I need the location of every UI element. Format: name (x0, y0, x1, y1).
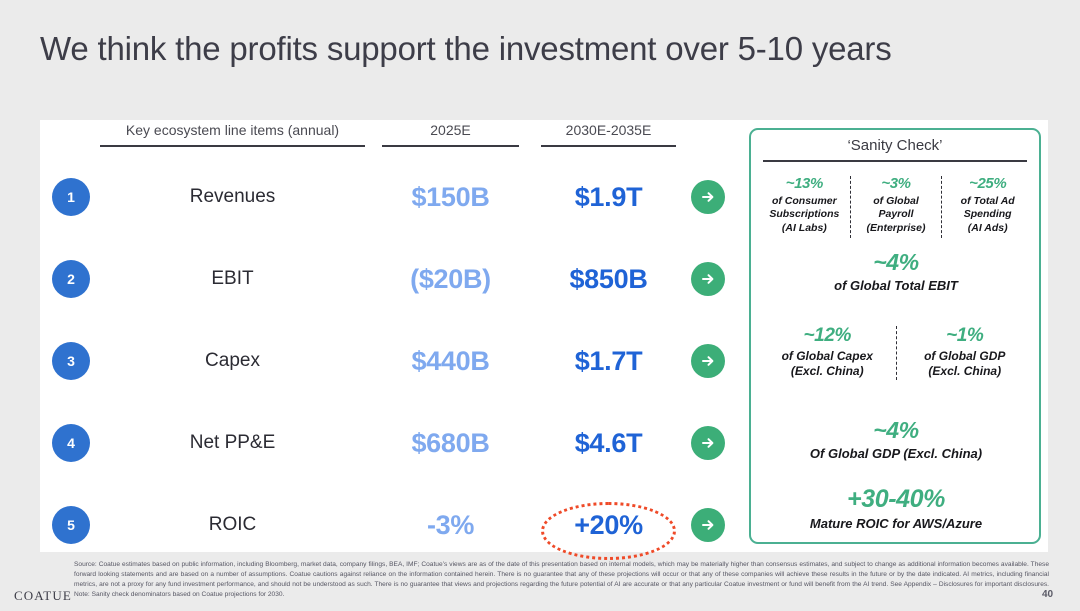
table-header-row: Key ecosystem line items (annual) 2025E … (40, 120, 740, 156)
footnote-disclaimer: Source: Coatue estimates based on public… (74, 560, 1049, 600)
sanity-percent: ~25% (945, 176, 1030, 192)
sanity-percent: +30-40% (759, 486, 1033, 512)
row-value-2030e: $1.7T (541, 338, 676, 384)
sanity-row-roic: +30-40% Mature ROIC for AWS/Azure (759, 486, 1033, 533)
content-card: Key ecosystem line items (annual) 2025E … (40, 120, 1048, 552)
row-number-badge: 1 (52, 178, 90, 216)
row-line-item: EBIT (100, 260, 365, 298)
sanity-row-capex: ~12% of Global Capex (Excl. China) ~1% o… (759, 326, 1033, 380)
column-header-line-items: Key ecosystem line items (annual) (100, 122, 365, 147)
sanity-percent: ~4% (759, 418, 1033, 442)
sanity-row-net-ppe: ~4% Of Global GDP (Excl. China) (759, 418, 1033, 463)
sanity-row-revenues: ~13% of Consumer Subscriptions (AI Labs)… (759, 176, 1033, 238)
sanity-cell: ~1% of Global GDP (Excl. China) (897, 326, 1034, 380)
sanity-description: of Global Capex (Excl. China) (762, 349, 893, 380)
page-title: We think the profits support the investm… (40, 30, 892, 68)
row-value-2025e: ($20B) (382, 256, 519, 302)
sanity-check-panel: ‘Sanity Check’ ~13% of Consumer Subscrip… (749, 128, 1041, 544)
row-value-2025e: $680B (382, 420, 519, 466)
sanity-cell: ~25% of Total Ad Spending (AI Ads) (942, 176, 1033, 235)
sanity-check-title: ‘Sanity Check’ (763, 137, 1027, 162)
row-line-item: Net PP&E (100, 424, 365, 462)
row-number-badge: 2 (52, 260, 90, 298)
arrow-right-icon[interactable] (691, 426, 725, 460)
row-value-2025e: -3% (382, 502, 519, 548)
row-value-2025e: $150B (382, 174, 519, 220)
sanity-description: Of Global GDP (Excl. China) (759, 446, 1033, 463)
sanity-percent: ~12% (762, 326, 893, 346)
page-number: 40 (1042, 589, 1053, 600)
sanity-percent: ~4% (759, 250, 1033, 274)
row-line-item: Revenues (100, 178, 365, 216)
column-header-2030e-2035e: 2030E-2035E (541, 122, 676, 147)
column-header-2025e: 2025E (382, 122, 519, 147)
table-row: 3 Capex $440B $1.7T (40, 326, 740, 408)
sanity-row-ebit: ~4% of Global Total EBIT (759, 250, 1033, 295)
sanity-percent: ~1% (900, 326, 1031, 346)
table-row: 4 Net PP&E $680B $4.6T (40, 408, 740, 490)
sanity-percent: ~13% (762, 176, 847, 192)
table-row: 1 Revenues $150B $1.9T (40, 162, 740, 244)
row-value-2030e: +20% (541, 502, 676, 548)
sanity-cell: ~12% of Global Capex (Excl. China) (759, 326, 896, 380)
arrow-right-icon[interactable] (691, 344, 725, 378)
arrow-right-icon[interactable] (691, 180, 725, 214)
sanity-cell: ~13% of Consumer Subscriptions (AI Labs) (759, 176, 850, 235)
sanity-description: of Consumer Subscriptions (AI Labs) (762, 195, 847, 235)
sanity-description: of Total Ad Spending (AI Ads) (945, 195, 1030, 235)
row-value-2025e: $440B (382, 338, 519, 384)
slide: We think the profits support the investm… (0, 0, 1080, 611)
table-row: 2 EBIT ($20B) $850B (40, 244, 740, 326)
row-number-badge: 4 (52, 424, 90, 462)
sanity-cell: ~3% of Global Payroll (Enterprise) (851, 176, 942, 235)
sanity-description: of Global GDP (Excl. China) (900, 349, 1031, 380)
coatue-logo: COATUE (14, 588, 72, 604)
row-line-item: Capex (100, 342, 365, 380)
row-value-2030e: $850B (541, 256, 676, 302)
row-number-badge: 5 (52, 506, 90, 544)
row-number-badge: 3 (52, 342, 90, 380)
row-value-2030e: $4.6T (541, 420, 676, 466)
arrow-right-icon[interactable] (691, 508, 725, 542)
arrow-right-icon[interactable] (691, 262, 725, 296)
line-items-table: Key ecosystem line items (annual) 2025E … (40, 120, 740, 552)
sanity-description: Mature ROIC for AWS/Azure (759, 516, 1033, 533)
row-line-item: ROIC (100, 506, 365, 544)
sanity-description: of Global Payroll (Enterprise) (854, 195, 939, 235)
row-value-2030e: $1.9T (541, 174, 676, 220)
sanity-percent: ~3% (854, 176, 939, 192)
sanity-description: of Global Total EBIT (759, 278, 1033, 295)
